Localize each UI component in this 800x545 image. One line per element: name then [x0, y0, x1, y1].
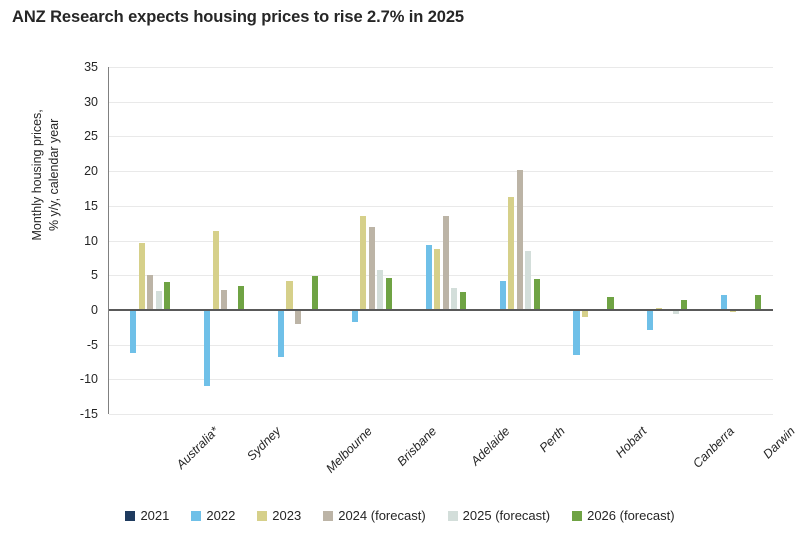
- bar-group: [700, 67, 774, 414]
- x-tick-label: Sydney: [244, 424, 283, 463]
- y-tick-label: 10: [52, 234, 98, 248]
- bar[interactable]: [278, 310, 284, 357]
- bar[interactable]: [352, 310, 358, 322]
- bar[interactable]: [534, 279, 540, 310]
- bar-group: [183, 67, 257, 414]
- bar-group: [405, 67, 479, 414]
- bar[interactable]: [386, 278, 392, 310]
- legend-label: 2021: [140, 508, 169, 523]
- gridline: [109, 414, 773, 415]
- y-tick-label: -5: [52, 338, 98, 352]
- bar[interactable]: [269, 199, 275, 310]
- bar[interactable]: [221, 290, 227, 309]
- x-tick-label: Brisbane: [394, 424, 439, 469]
- legend-swatch-icon: [125, 511, 135, 521]
- legend-label: 2023: [272, 508, 301, 523]
- bar[interactable]: [517, 170, 523, 310]
- legend-swatch-icon: [323, 511, 333, 521]
- bar[interactable]: [565, 83, 571, 310]
- bar[interactable]: [377, 270, 383, 310]
- bar[interactable]: [525, 251, 531, 310]
- legend-item[interactable]: 2023: [257, 508, 301, 523]
- bar[interactable]: [122, 150, 128, 310]
- bar[interactable]: [139, 243, 145, 310]
- zero-line: [109, 309, 773, 311]
- legend-label: 2026 (forecast): [587, 508, 674, 523]
- legend-item[interactable]: 2026 (forecast): [572, 508, 674, 523]
- bar[interactable]: [295, 310, 301, 325]
- bar-group: [478, 67, 552, 414]
- bar[interactable]: [443, 216, 449, 310]
- bar[interactable]: [639, 132, 645, 310]
- bar-group: [552, 67, 626, 414]
- x-tick-label: Canberra: [691, 424, 738, 471]
- chart-legend: 2021202220232024 (forecast)2025 (forecas…: [0, 508, 800, 523]
- x-tick-label: Adelaide: [468, 424, 512, 468]
- bar[interactable]: [713, 215, 719, 310]
- bar[interactable]: [434, 249, 440, 310]
- y-tick-label: -15: [52, 407, 98, 421]
- y-tick-label: 15: [52, 199, 98, 213]
- y-tick-label: 0: [52, 303, 98, 317]
- legend-label: 2022: [206, 508, 235, 523]
- bar[interactable]: [369, 227, 375, 310]
- bar[interactable]: [508, 197, 514, 309]
- bar-group: [109, 67, 183, 414]
- legend-label: 2025 (forecast): [463, 508, 550, 523]
- bar[interactable]: [312, 276, 318, 310]
- plot-area: [108, 67, 773, 414]
- y-tick-label: 35: [52, 60, 98, 74]
- legend-item[interactable]: 2024 (forecast): [323, 508, 425, 523]
- x-tick-label: Hobart: [613, 424, 649, 460]
- y-tick-label: 5: [52, 268, 98, 282]
- bar[interactable]: [647, 310, 653, 330]
- bar[interactable]: [213, 231, 219, 310]
- bar[interactable]: [343, 91, 349, 310]
- legend-swatch-icon: [191, 511, 201, 521]
- bar[interactable]: [500, 281, 506, 309]
- legend-item[interactable]: 2025 (forecast): [448, 508, 550, 523]
- bar[interactable]: [491, 213, 497, 310]
- bar[interactable]: [460, 292, 466, 310]
- y-tick-label: 25: [52, 129, 98, 143]
- legend-swatch-icon: [257, 511, 267, 521]
- bar[interactable]: [238, 286, 244, 310]
- bar[interactable]: [755, 295, 761, 310]
- legend-swatch-icon: [448, 511, 458, 521]
- bar[interactable]: [147, 275, 153, 310]
- bar[interactable]: [417, 155, 423, 310]
- bar-group: [626, 67, 700, 414]
- bar-group: [331, 67, 405, 414]
- bar[interactable]: [451, 288, 457, 310]
- bar[interactable]: [196, 123, 202, 310]
- x-tick-label: Perth: [536, 424, 567, 455]
- y-tick-label: 20: [52, 164, 98, 178]
- x-tick-label: Darwin: [761, 424, 798, 461]
- x-tick-label: Australia*: [174, 424, 222, 472]
- legend-swatch-icon: [572, 511, 582, 521]
- bar[interactable]: [156, 291, 162, 310]
- bar[interactable]: [573, 310, 579, 355]
- bar[interactable]: [426, 245, 432, 310]
- bar[interactable]: [204, 310, 210, 386]
- bar-group: [257, 67, 331, 414]
- x-tick-label: Melbourne: [323, 424, 375, 476]
- legend-item[interactable]: 2021: [125, 508, 169, 523]
- bar[interactable]: [360, 216, 366, 310]
- bar[interactable]: [582, 310, 588, 317]
- bar[interactable]: [130, 310, 136, 353]
- y-tick-label: 30: [52, 95, 98, 109]
- chart-container: ANZ Research expects housing prices to r…: [0, 0, 800, 545]
- bar[interactable]: [164, 282, 170, 310]
- y-tick-label: -10: [52, 372, 98, 386]
- bar[interactable]: [286, 281, 292, 310]
- legend-label: 2024 (forecast): [338, 508, 425, 523]
- legend-item[interactable]: 2022: [191, 508, 235, 523]
- chart-title: ANZ Research expects housing prices to r…: [12, 8, 464, 27]
- bar[interactable]: [721, 295, 727, 310]
